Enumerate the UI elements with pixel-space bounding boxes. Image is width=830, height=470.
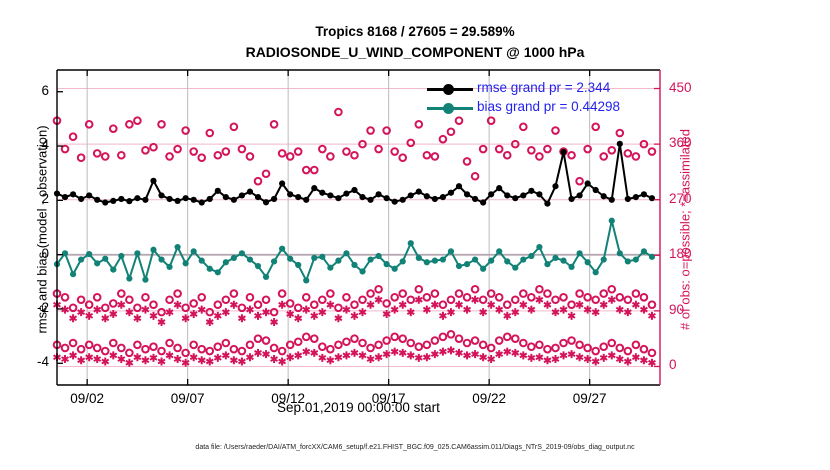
data-point	[456, 183, 462, 189]
data-point	[464, 191, 470, 197]
data-point	[633, 194, 639, 200]
data-point	[480, 199, 486, 205]
x-tick-label: 09/07	[158, 391, 218, 406]
data-point	[311, 185, 317, 191]
data-point	[448, 248, 454, 254]
data-point	[585, 259, 591, 265]
data-point	[424, 259, 430, 265]
data-point	[255, 194, 261, 200]
data-point	[126, 275, 132, 281]
data-point	[247, 256, 253, 262]
data-point	[512, 195, 518, 201]
data-point	[577, 250, 583, 256]
data-point	[536, 244, 542, 250]
data-point	[528, 188, 534, 194]
data-point	[641, 191, 647, 197]
data-point	[408, 240, 414, 246]
data-point	[199, 258, 205, 264]
data-point	[408, 192, 414, 198]
data-file-caption: data file: /Users/raeder/DAI/ATM_forcXX/…	[0, 444, 830, 451]
data-point	[191, 248, 197, 254]
data-point	[367, 197, 373, 203]
data-point	[126, 198, 132, 204]
y-tick-label-right: 180	[669, 246, 705, 261]
data-point	[239, 192, 245, 198]
data-point	[504, 192, 510, 198]
data-point	[625, 258, 631, 264]
data-point	[400, 197, 406, 203]
x-tick-label: 09/12	[258, 391, 318, 406]
data-point	[215, 269, 221, 275]
data-point	[416, 255, 422, 261]
data-point	[102, 199, 108, 205]
data-point	[175, 244, 181, 250]
data-point	[625, 196, 631, 202]
data-point	[255, 263, 261, 269]
data-point	[94, 197, 100, 203]
data-point	[287, 191, 293, 197]
data-point	[239, 250, 245, 256]
data-point	[175, 198, 181, 204]
data-point	[223, 259, 229, 265]
data-point	[231, 197, 237, 203]
data-point	[617, 250, 623, 256]
data-point	[295, 262, 301, 268]
data-point	[279, 246, 285, 252]
data-point	[351, 262, 357, 268]
data-point	[641, 248, 647, 254]
data-point	[376, 191, 382, 197]
data-point	[319, 190, 325, 196]
data-point	[207, 266, 213, 272]
data-point	[78, 196, 84, 202]
data-point	[263, 274, 269, 280]
data-point	[472, 256, 478, 262]
data-point	[359, 268, 365, 274]
data-point	[223, 194, 229, 200]
x-tick-label: 09/22	[459, 391, 519, 406]
legend-item-rmse[interactable]: rmse grand pr = 2.344	[425, 80, 665, 99]
data-point	[609, 197, 615, 203]
data-point	[263, 199, 269, 205]
data-point	[504, 258, 510, 264]
data-point	[472, 196, 478, 202]
x-tick-label: 09/27	[560, 391, 620, 406]
data-point	[552, 255, 558, 261]
data-point	[536, 191, 542, 197]
data-point	[311, 255, 317, 261]
data-point	[150, 178, 156, 184]
data-point	[585, 180, 591, 186]
data-point	[118, 253, 124, 259]
data-point	[552, 183, 558, 189]
data-point	[392, 199, 398, 205]
data-point	[166, 196, 172, 202]
data-point	[158, 192, 164, 198]
data-point	[134, 195, 140, 201]
data-point	[488, 258, 494, 264]
data-point	[207, 196, 213, 202]
data-point	[343, 190, 349, 196]
data-point	[464, 261, 470, 267]
data-point	[416, 189, 422, 195]
data-point	[183, 260, 189, 266]
data-point	[384, 195, 390, 201]
data-point	[78, 256, 84, 262]
data-point	[94, 260, 100, 266]
data-point	[215, 188, 221, 194]
data-point	[86, 192, 92, 198]
data-point	[62, 194, 68, 200]
data-point	[544, 201, 550, 207]
legend-marker-rmse	[443, 84, 454, 95]
y-tick-label-left: 4	[19, 137, 49, 152]
data-point	[384, 261, 390, 267]
data-point	[191, 197, 197, 203]
figure-canvas: Tropics 8168 / 27605 = 29.589% RADIOSOND…	[0, 0, 830, 470]
y-tick-label-left: 6	[19, 83, 49, 98]
data-point	[367, 256, 373, 262]
data-point	[488, 191, 494, 197]
data-point	[544, 261, 550, 267]
data-point	[327, 265, 333, 271]
data-point	[70, 271, 76, 277]
data-point	[199, 199, 205, 205]
data-point	[158, 256, 164, 262]
y-tick-label-left: -2	[19, 300, 49, 315]
data-point	[440, 256, 446, 262]
data-point	[303, 277, 309, 283]
y-tick-label-right: 90	[669, 302, 705, 317]
data-point	[279, 180, 285, 186]
data-point	[150, 247, 156, 253]
data-point	[231, 255, 237, 261]
data-point	[593, 187, 599, 193]
data-point	[287, 256, 293, 262]
data-point	[118, 196, 124, 202]
data-point	[617, 141, 623, 147]
data-point	[528, 253, 534, 259]
data-point	[134, 250, 140, 256]
data-point	[601, 193, 607, 199]
x-tick-label: 09/17	[359, 391, 419, 406]
data-point	[456, 263, 462, 269]
y-tick-label-left: 0	[19, 246, 49, 261]
data-point	[568, 264, 574, 270]
y-tick-label-right: 450	[669, 80, 705, 95]
data-point	[496, 248, 502, 254]
data-point	[577, 192, 583, 198]
data-point	[86, 251, 92, 257]
data-point	[142, 197, 148, 203]
x-tick-label: 09/02	[57, 391, 117, 406]
data-point	[520, 192, 526, 198]
data-point	[319, 254, 325, 260]
data-point	[70, 191, 76, 197]
data-point	[633, 256, 639, 262]
legend-marker-bias	[443, 103, 454, 114]
data-point	[335, 195, 341, 201]
data-point	[327, 192, 333, 198]
data-point	[593, 269, 599, 275]
data-point	[335, 258, 341, 264]
data-point	[102, 256, 108, 262]
data-point	[601, 256, 607, 262]
data-point	[560, 258, 566, 264]
data-point	[110, 198, 116, 204]
data-point	[432, 196, 438, 202]
data-point	[376, 253, 382, 259]
data-point	[609, 218, 615, 224]
data-point	[295, 194, 301, 200]
data-point	[359, 194, 365, 200]
data-point	[520, 256, 526, 262]
data-point	[351, 187, 357, 193]
data-point	[62, 250, 68, 256]
data-point	[400, 258, 406, 264]
data-point	[480, 266, 486, 272]
data-point	[448, 190, 454, 196]
data-point	[271, 196, 277, 202]
legend: rmse grand pr = 2.344 bias grand pr = 0.…	[425, 80, 665, 118]
data-point	[392, 266, 398, 272]
data-point	[247, 189, 253, 195]
data-point	[560, 149, 566, 155]
data-point	[568, 196, 574, 202]
y-tick-label-right: 360	[669, 135, 705, 150]
data-point	[110, 266, 116, 272]
data-point	[183, 195, 189, 201]
data-point	[303, 197, 309, 203]
y-tick-label-right: 0	[669, 357, 705, 372]
legend-item-bias[interactable]: bias grand pr = 0.44298	[425, 99, 665, 118]
data-point	[343, 250, 349, 256]
legend-label-rmse: rmse grand pr = 2.344	[477, 80, 610, 95]
legend-label-bias: bias grand pr = 0.44298	[477, 99, 620, 114]
data-point	[424, 193, 430, 199]
data-point	[142, 277, 148, 283]
y-tick-label-right: 270	[669, 191, 705, 206]
data-point	[496, 185, 502, 191]
data-point	[432, 258, 438, 264]
data-point	[440, 194, 446, 200]
y-tick-label-left: 2	[19, 191, 49, 206]
data-point	[166, 264, 172, 270]
data-point	[512, 265, 518, 271]
data-point	[271, 258, 277, 264]
y-tick-label-left: -4	[19, 354, 49, 369]
